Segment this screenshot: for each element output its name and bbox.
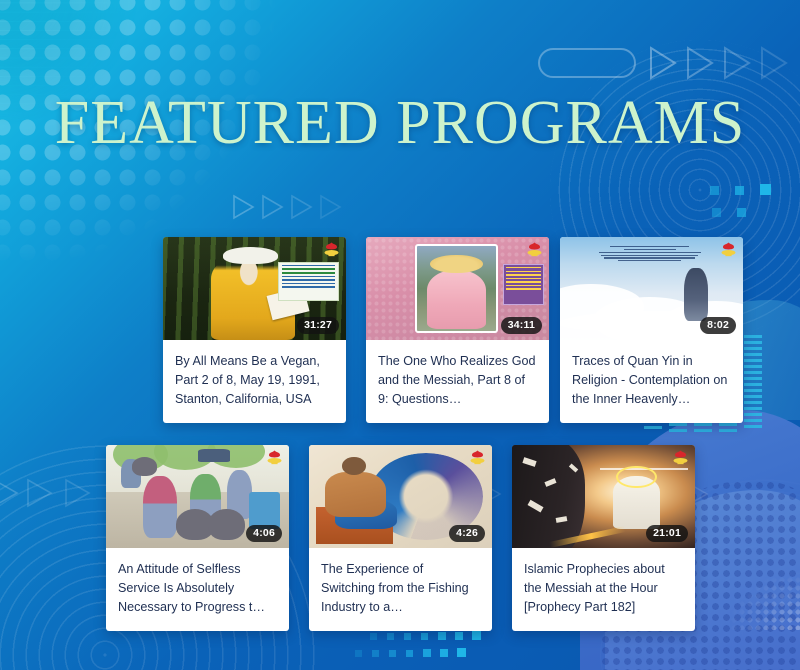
accent-square [712,208,721,217]
play-triangle-icon [648,46,678,80]
program-thumbnail[interactable]: 4:06 [106,445,289,548]
play-triangle-icon [722,46,752,80]
duration-badge: 21:01 [646,525,688,542]
accent-square [389,650,396,657]
play-triangle-icon [685,46,715,80]
play-triangle-icon [261,194,285,220]
duration-badge: 8:02 [700,317,736,334]
program-title: Islamic Prophecies about the Messiah at … [512,548,695,631]
play-triangle-icon [64,478,92,508]
featured-programs-banner: FEATURED PROGRAMS 31:27 By All Means Be … [0,0,800,670]
duration-badge: 34:11 [501,317,542,334]
program-card[interactable]: 31:27 By All Means Be a Vegan, Part 2 of… [163,237,346,423]
play-triangle-icon [26,478,54,508]
duration-badge: 4:26 [449,525,485,542]
play-triangle-icon [290,194,314,220]
program-title: The Experience of Switching from the Fis… [309,548,492,631]
accent-square [455,632,463,640]
channel-logo-icon [468,449,487,466]
program-card[interactable]: 4:06 An Attitude of Selfless Service Is … [106,445,289,631]
program-thumbnail[interactable]: 21:01 [512,445,695,548]
program-title: Traces of Quan Yin in Religion - Contemp… [560,340,743,423]
program-card[interactable]: 21:01 Islamic Prophecies about the Messi… [512,445,695,631]
program-title: The One Who Realizes God and the Messiah… [366,340,549,423]
accent-square [404,633,411,640]
artwork-overlay-text [593,244,706,263]
artwork-detail [684,268,708,322]
channel-logo-icon [525,241,544,258]
accent-square [370,633,377,640]
artwork-detail [223,247,278,263]
program-thumbnail[interactable]: 34:11 [366,237,549,340]
accent-square [735,186,744,195]
accent-square [355,650,362,657]
artwork-overlay-card [503,264,543,305]
program-thumbnail[interactable]: 4:26 [309,445,492,548]
artwork-overlay-card [278,262,338,301]
accent-square [387,633,394,640]
page-title: FEATURED PROGRAMS [0,92,800,154]
accent-square [406,650,413,657]
duration-badge: 4:06 [246,525,282,542]
halftone-corner-dots [714,560,800,630]
accent-square [710,186,719,195]
pill-outline-decoration [538,48,636,78]
program-title: By All Means Be a Vegan, Part 2 of 8, Ma… [163,340,346,423]
channel-logo-icon [719,241,738,258]
channel-logo-icon [265,449,284,466]
accent-square [457,648,466,657]
accent-square [440,649,448,657]
accent-square [372,650,379,657]
play-triangle-icon [232,194,256,220]
program-card[interactable]: 4:26 The Experience of Switching from th… [309,445,492,631]
play-triangle-icon [759,46,789,80]
duration-badge: 31:27 [297,317,339,334]
channel-logo-icon [322,241,341,258]
play-triangle-icon [319,194,343,220]
accent-square [438,632,446,640]
program-thumbnail[interactable]: 31:27 [163,237,346,340]
play-triangle-icon [0,478,20,508]
program-title: An Attitude of Selfless Service Is Absol… [106,548,289,631]
accent-square [737,208,746,217]
accent-square [472,631,481,640]
accent-square [421,633,428,640]
accent-square [423,649,431,657]
program-thumbnail[interactable]: 8:02 [560,237,743,340]
program-card[interactable]: 8:02 Traces of Quan Yin in Religion - Co… [560,237,743,423]
channel-logo-icon [671,449,690,466]
program-card[interactable]: 34:11 The One Who Realizes God and the M… [366,237,549,423]
accent-square [760,184,771,195]
artwork-detail [415,244,497,333]
